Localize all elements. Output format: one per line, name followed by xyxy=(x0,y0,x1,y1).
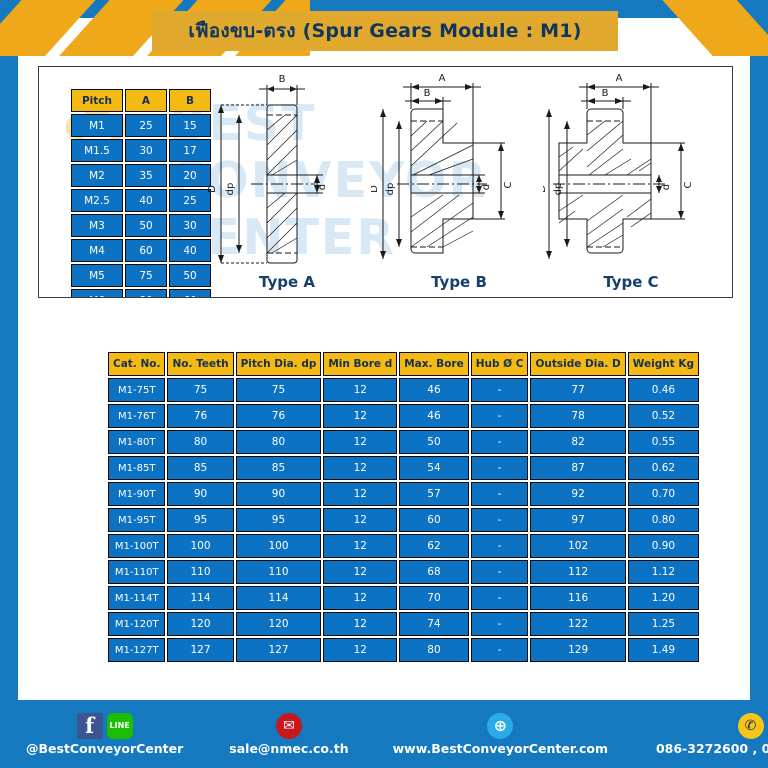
cell-pitch-dia: 120 xyxy=(236,612,322,636)
stripe xyxy=(626,0,768,56)
globe-icon[interactable]: ⊕ xyxy=(487,713,513,739)
cell-min-bore: 12 xyxy=(323,612,397,636)
cell-a: 75 xyxy=(125,264,167,287)
col-header-no-teeth: No. Teeth xyxy=(167,352,233,376)
gear-diagrams: D dp B d Type A xyxy=(199,71,731,297)
cell-weight: 0.62 xyxy=(628,456,699,480)
table-row: M1-75T 75 75 12 46 - 77 0.46 xyxy=(108,378,699,402)
cell-weight: 0.52 xyxy=(628,404,699,428)
footer-email-label: sale@nmec.co.th xyxy=(229,741,348,756)
table-row: M1-90T 90 90 12 57 - 92 0.70 xyxy=(108,482,699,506)
cell-no-teeth: 76 xyxy=(167,404,233,428)
cell-hub-c: - xyxy=(471,508,529,532)
svg-text:C: C xyxy=(683,181,694,188)
cell-weight: 0.70 xyxy=(628,482,699,506)
cell-outside-dia: 77 xyxy=(530,378,625,402)
cell-pitch-dia: 75 xyxy=(236,378,322,402)
cell-outside-dia: 112 xyxy=(530,560,625,584)
cell-min-bore: 12 xyxy=(323,508,397,532)
social-icons: f LINE xyxy=(77,713,133,739)
cell-no-teeth: 95 xyxy=(167,508,233,532)
cell-no-teeth: 120 xyxy=(167,612,233,636)
page-sheet: ✿ BEST CONVEYOR CENTER Pitch A B M1 25 1… xyxy=(18,18,750,700)
cell-cat-no: M1-90T xyxy=(108,482,165,506)
cell-outside-dia: 78 xyxy=(530,404,625,428)
cell-pitch-dia: 76 xyxy=(236,404,322,428)
footer-phone-group[interactable]: ✆ 086-3272600 , 02-0017766 xyxy=(656,700,768,768)
spec-table-body: M1-75T 75 75 12 46 - 77 0.46 M1-76T 76 7… xyxy=(108,378,699,662)
svg-text:D: D xyxy=(207,185,218,193)
cell-hub-c: - xyxy=(471,456,529,480)
cell-outside-dia: 97 xyxy=(530,508,625,532)
col-header-weight: Weight Kg xyxy=(628,352,699,376)
page-title-banner: เฟืองขบ-ตรง (Spur Gears Module : M1) xyxy=(152,11,618,51)
cell-no-teeth: 90 xyxy=(167,482,233,506)
cell-pitch: M3 xyxy=(71,214,123,237)
cell-weight: 1.25 xyxy=(628,612,699,636)
page-title: เฟืองขบ-ตรง (Spur Gears Module : M1) xyxy=(188,16,581,46)
cell-weight: 0.90 xyxy=(628,534,699,558)
table-row: M6 80 60 xyxy=(71,289,211,298)
cell-max-bore: 57 xyxy=(399,482,468,506)
cell-a: 40 xyxy=(125,189,167,212)
cell-cat-no: M1-100T xyxy=(108,534,165,558)
diagram-label-type-b: Type B xyxy=(371,273,547,291)
cell-pitch: M2.5 xyxy=(71,189,123,212)
pitch-header-a: A xyxy=(125,89,167,112)
cell-cat-no: M1-127T xyxy=(108,638,165,662)
cell-outside-dia: 116 xyxy=(530,586,625,610)
footer-social-label: @BestConveyorCenter xyxy=(26,741,183,756)
cell-hub-c: - xyxy=(471,586,529,610)
diagram-label-type-a: Type A xyxy=(199,273,375,291)
svg-text:A: A xyxy=(616,73,623,84)
cell-pitch: M1.5 xyxy=(71,139,123,162)
cell-min-bore: 12 xyxy=(323,430,397,454)
cell-min-bore: 12 xyxy=(323,404,397,428)
cell-hub-c: - xyxy=(471,560,529,584)
type-c-drawing: D dp A B d C xyxy=(543,71,719,275)
footer-social-group[interactable]: f LINE @BestConveyorCenter xyxy=(26,700,183,768)
col-header-cat-no: Cat. No. xyxy=(108,352,165,376)
svg-text:dp: dp xyxy=(225,183,236,196)
type-a-drawing: D dp B d xyxy=(199,71,375,275)
cell-min-bore: 12 xyxy=(323,378,397,402)
cell-cat-no: M1-80T xyxy=(108,430,165,454)
cell-no-teeth: 75 xyxy=(167,378,233,402)
phone-icon-wrap: ✆ xyxy=(738,713,764,739)
cell-no-teeth: 100 xyxy=(167,534,233,558)
cell-a: 60 xyxy=(125,239,167,262)
cell-no-teeth: 127 xyxy=(167,638,233,662)
cell-pitch-dia: 90 xyxy=(236,482,322,506)
cell-pitch-dia: 110 xyxy=(236,560,322,584)
cell-outside-dia: 129 xyxy=(530,638,625,662)
col-header-pitch-dia: Pitch Dia. dp xyxy=(236,352,322,376)
cell-min-bore: 12 xyxy=(323,586,397,610)
cell-a: 30 xyxy=(125,139,167,162)
cell-max-bore: 62 xyxy=(399,534,468,558)
cell-pitch-dia: 85 xyxy=(236,456,322,480)
cell-no-teeth: 114 xyxy=(167,586,233,610)
upper-section-frame: ✿ BEST CONVEYOR CENTER Pitch A B M1 25 1… xyxy=(38,66,733,298)
footer-website-label: www.BestConveyorCenter.com xyxy=(393,741,608,756)
table-row: M1-127T 127 127 12 80 - 129 1.49 xyxy=(108,638,699,662)
pitch-table: Pitch A B M1 25 15 M1.5 30 17 M2 xyxy=(69,87,213,298)
table-row: M1-85T 85 85 12 54 - 87 0.62 xyxy=(108,456,699,480)
cell-min-bore: 12 xyxy=(323,560,397,584)
website-icon-wrap: ⊕ xyxy=(487,713,513,739)
cell-pitch: M1 xyxy=(71,114,123,137)
facebook-icon[interactable]: f xyxy=(77,713,103,739)
cell-pitch: M4 xyxy=(71,239,123,262)
svg-text:d: d xyxy=(481,184,492,190)
cell-hub-c: - xyxy=(471,378,529,402)
table-row: M1-114T 114 114 12 70 - 116 1.20 xyxy=(108,586,699,610)
col-header-min-bore: Min Bore d xyxy=(323,352,397,376)
cell-hub-c: - xyxy=(471,430,529,454)
footer-email-group[interactable]: ✉ sale@nmec.co.th xyxy=(229,700,348,768)
cell-a: 35 xyxy=(125,164,167,187)
cell-weight: 1.12 xyxy=(628,560,699,584)
cell-pitch: M5 xyxy=(71,264,123,287)
svg-text:B: B xyxy=(424,88,431,99)
spec-table-header-row: Cat. No. No. Teeth Pitch Dia. dp Min Bor… xyxy=(108,352,699,376)
footer-website-group[interactable]: ⊕ www.BestConveyorCenter.com xyxy=(393,700,608,768)
cell-cat-no: M1-114T xyxy=(108,586,165,610)
cell-hub-c: - xyxy=(471,404,529,428)
cell-a: 50 xyxy=(125,214,167,237)
svg-text:D: D xyxy=(371,185,380,193)
cell-pitch-dia: 114 xyxy=(236,586,322,610)
cell-max-bore: 60 xyxy=(399,508,468,532)
mail-icon[interactable]: ✉ xyxy=(276,713,302,739)
footer-phone-label: 086-3272600 , 02-0017766 xyxy=(656,741,768,756)
cell-outside-dia: 102 xyxy=(530,534,625,558)
cell-min-bore: 12 xyxy=(323,534,397,558)
cell-cat-no: M1-75T xyxy=(108,378,165,402)
cell-no-teeth: 85 xyxy=(167,456,233,480)
cell-max-bore: 50 xyxy=(399,430,468,454)
svg-text:dp: dp xyxy=(385,183,396,196)
table-row: M1-95T 95 95 12 60 - 97 0.80 xyxy=(108,508,699,532)
svg-text:D: D xyxy=(543,185,548,193)
cell-hub-c: - xyxy=(471,638,529,662)
cell-min-bore: 12 xyxy=(323,638,397,662)
phone-icon[interactable]: ✆ xyxy=(738,713,764,739)
cell-no-teeth: 80 xyxy=(167,430,233,454)
cell-outside-dia: 82 xyxy=(530,430,625,454)
pitch-header-pitch: Pitch xyxy=(71,89,123,112)
table-row: M1 25 15 xyxy=(71,114,211,137)
cell-a: 80 xyxy=(125,289,167,298)
cell-weight: 0.46 xyxy=(628,378,699,402)
table-row: M1.5 30 17 xyxy=(71,139,211,162)
diagram-type-a: D dp B d Type A xyxy=(199,71,375,297)
svg-text:d: d xyxy=(317,184,328,190)
cell-max-bore: 54 xyxy=(399,456,468,480)
cell-pitch-dia: 100 xyxy=(236,534,322,558)
cell-max-bore: 74 xyxy=(399,612,468,636)
cell-pitch-dia: 80 xyxy=(236,430,322,454)
svg-text:A: A xyxy=(439,73,446,84)
table-row: M4 60 40 xyxy=(71,239,211,262)
cell-max-bore: 46 xyxy=(399,404,468,428)
cell-hub-c: - xyxy=(471,612,529,636)
cell-outside-dia: 122 xyxy=(530,612,625,636)
table-row: M1-80T 80 80 12 50 - 82 0.55 xyxy=(108,430,699,454)
cell-weight: 1.49 xyxy=(628,638,699,662)
table-row: M2 35 20 xyxy=(71,164,211,187)
table-row: M1-120T 120 120 12 74 - 122 1.25 xyxy=(108,612,699,636)
table-row: M5 75 50 xyxy=(71,264,211,287)
cell-a: 25 xyxy=(125,114,167,137)
cell-cat-no: M1-110T xyxy=(108,560,165,584)
cell-hub-c: - xyxy=(471,534,529,558)
cell-min-bore: 12 xyxy=(323,482,397,506)
col-header-max-bore: Max. Bore xyxy=(399,352,468,376)
line-icon[interactable]: LINE xyxy=(107,713,133,739)
cell-max-bore: 70 xyxy=(399,586,468,610)
cell-pitch-dia: 95 xyxy=(236,508,322,532)
cell-pitch: M2 xyxy=(71,164,123,187)
cell-max-bore: 80 xyxy=(399,638,468,662)
table-row: M3 50 30 xyxy=(71,214,211,237)
table-row: M1-110T 110 110 12 68 - 112 1.12 xyxy=(108,560,699,584)
cell-min-bore: 12 xyxy=(323,456,397,480)
col-header-outside-dia: Outside Dia. D xyxy=(530,352,625,376)
diagram-label-type-c: Type C xyxy=(543,273,719,291)
cell-weight: 0.80 xyxy=(628,508,699,532)
email-icon-wrap: ✉ xyxy=(276,713,302,739)
svg-text:B: B xyxy=(602,88,609,99)
footer-contact-bar: f LINE @BestConveyorCenter ✉ sale@nmec.c… xyxy=(0,700,768,768)
cell-weight: 0.55 xyxy=(628,430,699,454)
cell-weight: 1.20 xyxy=(628,586,699,610)
table-row: M1-76T 76 76 12 46 - 78 0.52 xyxy=(108,404,699,428)
cell-pitch: M6 xyxy=(71,289,123,298)
diagram-type-b: D dp A B d C Type B xyxy=(371,71,547,297)
cell-max-bore: 68 xyxy=(399,560,468,584)
spec-table: Cat. No. No. Teeth Pitch Dia. dp Min Bor… xyxy=(106,350,701,664)
table-row: M2.5 40 25 xyxy=(71,189,211,212)
cell-max-bore: 46 xyxy=(399,378,468,402)
table-row: M1-100T 100 100 12 62 - 102 0.90 xyxy=(108,534,699,558)
cell-no-teeth: 110 xyxy=(167,560,233,584)
cell-outside-dia: 87 xyxy=(530,456,625,480)
cell-cat-no: M1-120T xyxy=(108,612,165,636)
cell-cat-no: M1-76T xyxy=(108,404,165,428)
cell-cat-no: M1-95T xyxy=(108,508,165,532)
type-b-drawing: D dp A B d C xyxy=(371,71,547,275)
svg-text:dp: dp xyxy=(553,183,564,196)
svg-text:B: B xyxy=(279,74,286,85)
svg-text:C: C xyxy=(503,181,514,188)
svg-text:d: d xyxy=(661,184,672,190)
cell-cat-no: M1-85T xyxy=(108,456,165,480)
diagram-type-c: D dp A B d C Type C xyxy=(543,71,719,297)
cell-pitch-dia: 127 xyxy=(236,638,322,662)
col-header-hub-c: Hub Ø C xyxy=(471,352,529,376)
pitch-table-header-row: Pitch A B xyxy=(71,89,211,112)
cell-hub-c: - xyxy=(471,482,529,506)
cell-outside-dia: 92 xyxy=(530,482,625,506)
